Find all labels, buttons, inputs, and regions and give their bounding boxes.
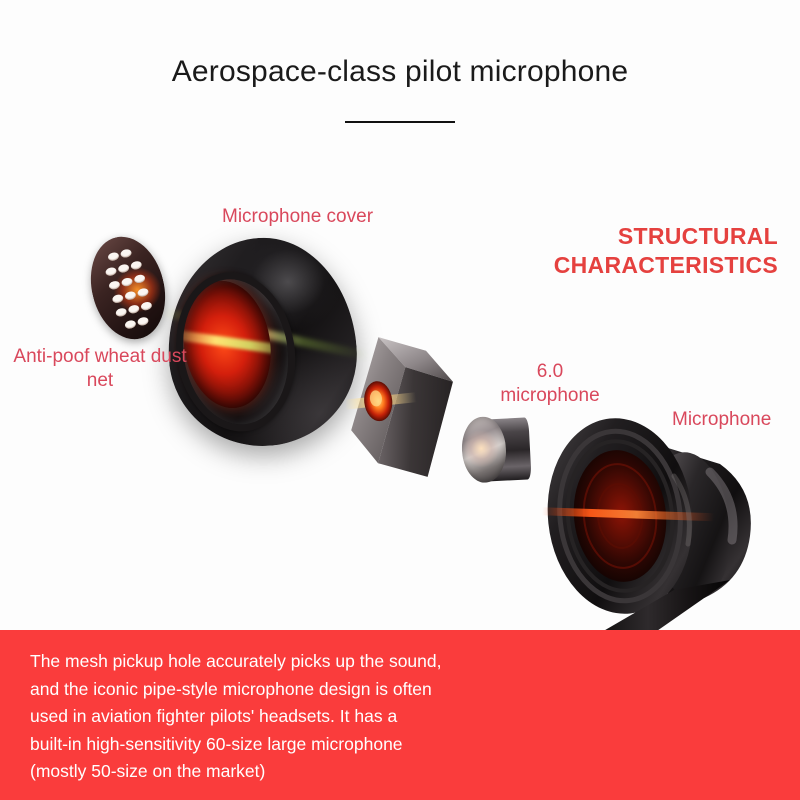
section-heading-line1: STRUCTURAL	[458, 222, 778, 251]
label-dust-net: Anti-poof wheat dust net	[5, 345, 195, 393]
page-title: Aerospace-class pilot microphone	[0, 55, 800, 89]
mesh-hole	[133, 274, 146, 284]
mesh-hole	[104, 267, 117, 277]
title-divider	[345, 121, 455, 123]
mesh-hole	[120, 248, 133, 258]
banner-line: used in aviation fighter pilots' headset…	[30, 703, 550, 731]
mesh-hole	[117, 263, 130, 273]
prism-svg	[344, 334, 461, 482]
mesh-hole	[140, 301, 153, 311]
prism-housing-block	[344, 334, 461, 482]
banner-line: The mesh pickup hole accurately picks up…	[30, 648, 550, 676]
label-60-microphone: 6.0 microphone	[485, 360, 615, 408]
banner-line: and the iconic pipe-style microphone des…	[30, 676, 550, 704]
mesh-hole	[120, 277, 133, 287]
banner-paragraph: The mesh pickup hole accurately picks up…	[30, 648, 550, 786]
microphone-barrel	[524, 404, 792, 640]
mesh-hole	[111, 294, 124, 304]
mesh-hole	[136, 287, 149, 297]
microphone-capsule-cylinder	[460, 414, 533, 486]
mesh-hole	[114, 307, 127, 317]
dust-net-mesh-disc	[80, 229, 175, 347]
product-feature-page: Aerospace-class pilot microphone STRUCTU…	[0, 0, 800, 800]
section-heading: STRUCTURAL CHARACTERISTICS	[458, 222, 778, 280]
banner-line: built-in high-sensitivity 60-size large …	[30, 731, 550, 759]
mesh-hole	[127, 304, 140, 314]
mesh-hole	[124, 291, 137, 301]
mesh-hole	[107, 251, 120, 261]
label-microphone-cover: Microphone cover	[222, 205, 373, 229]
banner-line: (mostly 50-size on the market)	[30, 758, 550, 786]
mesh-hole	[137, 316, 150, 326]
description-banner: The mesh pickup hole accurately picks up…	[0, 630, 800, 800]
barrel-svg	[524, 404, 792, 640]
label-microphone: Microphone	[672, 408, 771, 432]
mesh-hole	[124, 319, 137, 329]
microphone-cover-dome	[161, 232, 363, 453]
section-heading-line2: CHARACTERISTICS	[458, 251, 778, 280]
mesh-hole	[108, 280, 121, 290]
mesh-hole	[129, 260, 142, 270]
